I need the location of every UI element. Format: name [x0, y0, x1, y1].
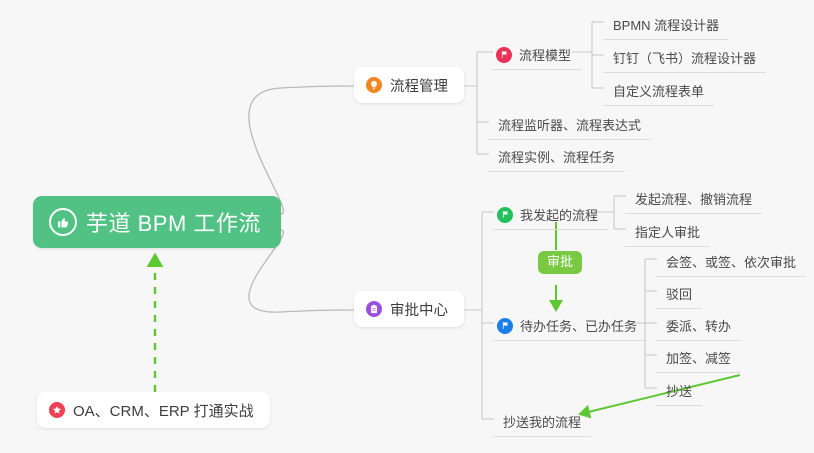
- leaf-cc[interactable]: 抄送: [656, 378, 702, 406]
- node-process-model-label: 流程模型: [519, 45, 571, 64]
- branch-flow-management-label: 流程管理: [390, 75, 448, 96]
- leaf-countersign[interactable]: 会签、或签、依次审批: [656, 249, 806, 277]
- branch-approval-center-label: 审批中心: [390, 299, 448, 320]
- annotation-tag-approve: 审批: [538, 251, 582, 274]
- leaf-add-remove-sign[interactable]: 加签、减签: [656, 345, 741, 373]
- branch-approval-center[interactable]: 审批中心: [354, 291, 464, 327]
- leaf-instance-task[interactable]: 流程实例、流程任务: [488, 144, 625, 172]
- link-root-to-flow-mgmt: [249, 86, 354, 214]
- leaf-start-cancel-process[interactable]: 发起流程、撤销流程: [625, 186, 762, 214]
- flag-icon: [497, 207, 513, 223]
- flag-icon: [496, 47, 512, 63]
- star-icon: [49, 402, 65, 418]
- clipboard-icon: [366, 301, 382, 317]
- leaf-listener-expression[interactable]: 流程监听器、流程表达式: [488, 112, 651, 140]
- leaf-reject[interactable]: 驳回: [656, 281, 702, 309]
- branch-flow-management[interactable]: 流程管理: [354, 67, 464, 103]
- leaf-bpmn-designer[interactable]: BPMN 流程设计器: [603, 12, 729, 40]
- node-todo-done-tasks-label: 待办任务、已办任务: [520, 316, 637, 335]
- node-integration-practice[interactable]: OA、CRM、ERP 打通实战: [37, 392, 270, 428]
- flag-icon: [497, 318, 513, 334]
- lightbulb-icon: [366, 77, 382, 93]
- node-todo-done-tasks[interactable]: 待办任务、已办任务: [493, 313, 647, 341]
- leaf-delegate-transfer[interactable]: 委派、转办: [656, 313, 741, 341]
- node-my-started-process[interactable]: 我发起的流程: [493, 202, 608, 230]
- leaf-assign-approver[interactable]: 指定人审批: [625, 219, 710, 247]
- thumbs-up-icon: [49, 208, 77, 236]
- leaf-custom-form[interactable]: 自定义流程表单: [603, 78, 714, 106]
- node-my-started-process-label: 我发起的流程: [520, 205, 598, 224]
- node-integration-practice-label: OA、CRM、ERP 打通实战: [73, 400, 254, 421]
- root-label: 芋道 BPM 工作流: [86, 206, 261, 238]
- leaf-cc-my-process[interactable]: 抄送我的流程: [493, 409, 591, 437]
- node-process-model[interactable]: 流程模型: [492, 42, 581, 70]
- leaf-dingtalk-designer[interactable]: 钉钉（飞书）流程设计器: [603, 45, 766, 73]
- mindmap-canvas: 芋道 BPM 工作流 流程管理 流程模型 BPMN 流程设计器 钉钉（飞书）流程…: [0, 0, 814, 453]
- root-node[interactable]: 芋道 BPM 工作流: [33, 196, 281, 248]
